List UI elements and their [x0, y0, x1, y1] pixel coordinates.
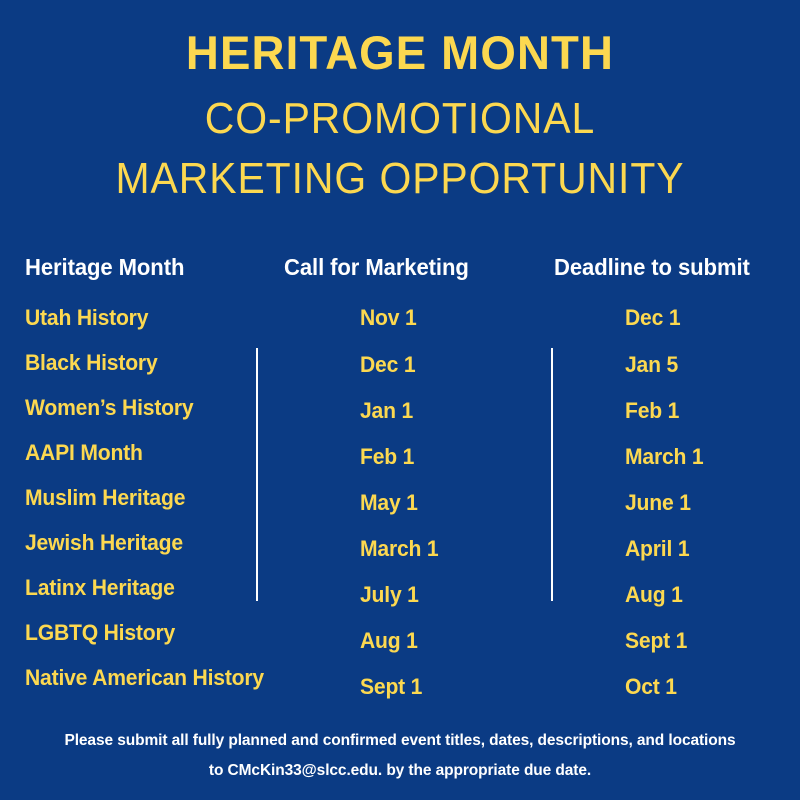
page-subtitle: CO-PROMOTIONAL MARKETING OPPORTUNITY [28, 89, 772, 208]
footer-line-2: to CMcKin33@slcc.edu. by the appropriate… [0, 756, 800, 786]
table-row: Dec 1 [360, 352, 415, 378]
column-divider-2 [551, 348, 553, 601]
table-row: May 1 [360, 490, 418, 516]
table-row: Oct 1 [625, 674, 677, 700]
table-row: Nov 1 [360, 305, 417, 331]
subtitle-line-1: CO-PROMOTIONAL [28, 89, 772, 148]
column-header-deadline-to-submit: Deadline to submit [554, 254, 750, 281]
table-row: Jan 5 [625, 352, 678, 378]
column-header-heritage-month: Heritage Month [25, 254, 184, 281]
table-row: Feb 1 [360, 444, 414, 470]
table-row: Feb 1 [625, 398, 679, 424]
table-row: Sept 1 [360, 674, 422, 700]
table-row: April 1 [625, 536, 689, 562]
page-title: HERITAGE MONTH [12, 28, 788, 77]
column-header-call-for-marketing: Call for Marketing [284, 254, 469, 281]
schedule-table: Heritage Month Call for Marketing Deadli… [0, 248, 800, 698]
table-row: Utah History [25, 305, 148, 331]
poster-canvas: HERITAGE MONTH CO-PROMOTIONAL MARKETING … [0, 0, 800, 800]
table-row: March 1 [625, 444, 703, 470]
table-row: March 1 [360, 536, 438, 562]
table-row: Jewish Heritage [25, 530, 183, 556]
title-block: HERITAGE MONTH CO-PROMOTIONAL MARKETING … [0, 28, 800, 208]
table-row: Muslim Heritage [25, 485, 185, 511]
table-row: Women’s History [25, 395, 193, 421]
table-row: Dec 1 [625, 305, 680, 331]
table-row: Black History [25, 350, 157, 376]
footer-note: Please submit all fully planned and conf… [0, 726, 800, 786]
table-row: Jan 1 [360, 398, 413, 424]
table-row: Aug 1 [625, 582, 683, 608]
table-row: Aug 1 [360, 628, 418, 654]
table-row: July 1 [360, 582, 419, 608]
table-row: LGBTQ History [25, 620, 175, 646]
subtitle-line-2: MARKETING OPPORTUNITY [28, 149, 772, 208]
footer-line-1: Please submit all fully planned and conf… [0, 726, 800, 756]
table-row: Latinx Heritage [25, 575, 175, 601]
table-row: June 1 [625, 490, 691, 516]
table-row: AAPI Month [25, 440, 143, 466]
column-divider-1 [256, 348, 258, 601]
table-row: Native American History [25, 665, 264, 691]
table-row: Sept 1 [625, 628, 687, 654]
